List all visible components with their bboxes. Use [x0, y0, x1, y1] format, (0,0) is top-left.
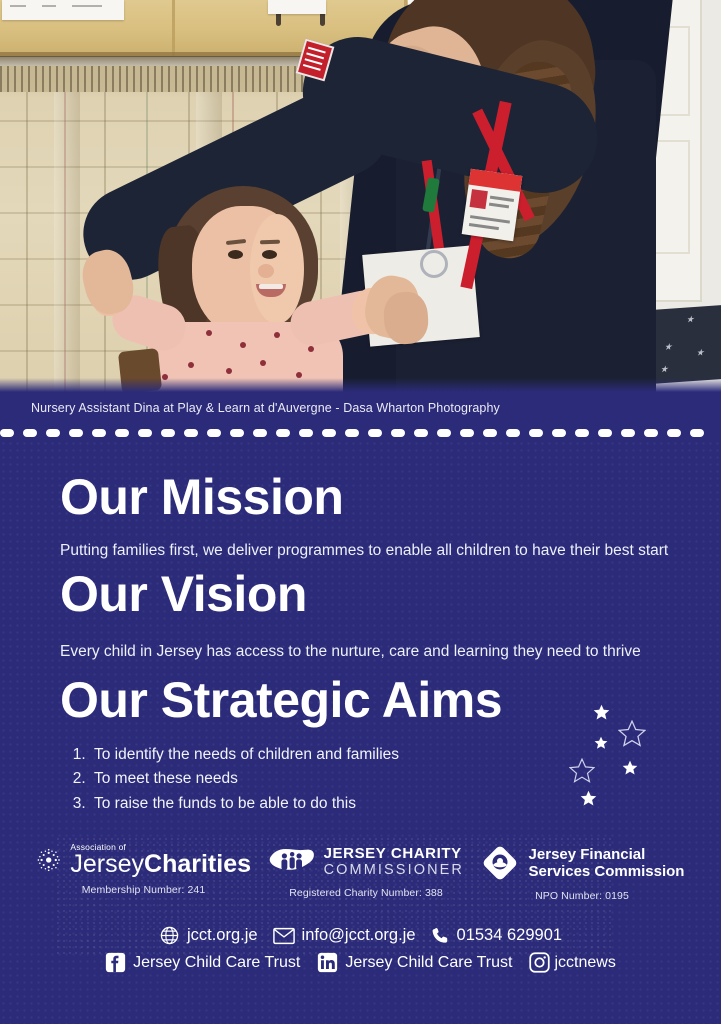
star-filled-icon — [622, 760, 638, 776]
logo-jersey-charity-commissioner: JERSEY CHARITY COMMISSIONER Registered C… — [268, 844, 464, 899]
jcc-line2: COMMISSIONER — [324, 862, 464, 878]
aims-list-item: To raise the funds to be able to do this — [90, 792, 502, 816]
hero-photo: ★☾ ★★ ☾★ ★☾ ★★ ☾★ ★★ — [0, 0, 721, 392]
jfsc-line1: Jersey Financial — [529, 846, 685, 863]
instagram-icon — [529, 952, 550, 973]
star-decorations — [556, 698, 666, 810]
ajc-line2: JerseyCharities — [70, 852, 251, 877]
vision-body: Every child in Jersey has access to the … — [60, 642, 641, 662]
aims-list-item: To identify the needs of children and fa… — [90, 743, 502, 767]
social-facebook[interactable]: Jersey Child Care Trust — [105, 952, 300, 973]
wall-notice — [268, 0, 326, 14]
id-badge — [462, 169, 523, 242]
jfsc-npo-number: NPO Number: 0195 — [478, 890, 686, 902]
social-instagram[interactable]: jcctnews — [529, 952, 615, 973]
globe-icon — [159, 925, 180, 946]
star-filled-icon — [594, 736, 608, 750]
child-eye — [228, 250, 243, 259]
section-strategic-aims: Our Strategic Aims To identify the needs… — [60, 675, 502, 816]
jfsc-diamond-icon — [480, 843, 520, 883]
sunburst-dots-icon — [36, 843, 61, 877]
contact-row-primary: jcct.org.je info@jcct.org.je 01534 62990… — [0, 925, 721, 946]
ajc-jersey: Jersey — [70, 850, 144, 878]
jcc-registered-number: Registered Charity Number: 388 — [268, 887, 464, 899]
ajc-charities: Charities — [144, 850, 251, 878]
linkedin-icon — [317, 952, 338, 973]
aims-list: To identify the needs of children and fa… — [60, 743, 502, 816]
section-vision: Our Vision Every child in Jersey has acc… — [60, 569, 641, 662]
aims-heading: Our Strategic Aims — [60, 675, 502, 725]
star-outline-icon — [618, 720, 646, 748]
aims-list-item: To meet these needs — [90, 767, 502, 791]
facebook-icon — [105, 952, 126, 973]
phone-icon — [431, 926, 450, 945]
poster-page: ★☾ ★★ ☾★ ★☾ ★★ ☾★ ★★ — [0, 0, 721, 1024]
ajc-membership-number: Membership Number: 241 — [36, 884, 251, 896]
photo-caption-text: Nursery Assistant Dina at Play & Learn a… — [31, 401, 500, 415]
contact-phone-label: 01534 629901 — [457, 926, 563, 945]
contact-email-label: info@jcct.org.je — [302, 926, 416, 945]
star-outline-icon — [569, 758, 595, 784]
contact-row-social: Jersey Child Care Trust Jersey Child Car… — [0, 952, 721, 973]
jfsc-line2: Services Commission — [529, 863, 685, 880]
keyring — [420, 250, 448, 278]
logo-jersey-financial-services-commission: Jersey Financial Services Commission NPO… — [478, 843, 686, 902]
jcc-line1: JERSEY CHARITY — [324, 846, 464, 862]
contact-block: jcct.org.je info@jcct.org.je 01534 62990… — [0, 925, 721, 973]
dashed-divider — [0, 429, 721, 437]
logo-association-of-jersey-charities: Association of JerseyCharities Membershi… — [36, 843, 251, 896]
social-linkedin[interactable]: Jersey Child Care Trust — [317, 952, 512, 973]
star-filled-icon — [580, 790, 597, 807]
star-filled-icon — [593, 704, 610, 721]
vision-heading: Our Vision — [60, 569, 641, 619]
photo-fade — [0, 378, 721, 392]
child-eye — [262, 250, 277, 259]
envelope-icon — [273, 927, 295, 945]
contact-email[interactable]: info@jcct.org.je — [273, 926, 416, 945]
social-facebook-label: Jersey Child Care Trust — [133, 954, 300, 972]
mission-heading: Our Mission — [60, 472, 668, 522]
social-linkedin-label: Jersey Child Care Trust — [345, 954, 512, 972]
jersey-island-people-icon — [268, 844, 315, 880]
social-instagram-label: jcctnews — [554, 954, 615, 972]
section-mission: Our Mission Putting families first, we d… — [60, 472, 668, 561]
photo-caption: Nursery Assistant Dina at Play & Learn a… — [0, 392, 721, 424]
contact-phone[interactable]: 01534 629901 — [431, 926, 563, 945]
mission-body: Putting families first, we deliver progr… — [60, 541, 668, 561]
wall-notice — [2, 0, 124, 20]
accreditation-logos: Association of JerseyCharities Membershi… — [0, 843, 721, 905]
contact-website[interactable]: jcct.org.je — [159, 925, 258, 946]
contact-website-label: jcct.org.je — [187, 926, 258, 945]
